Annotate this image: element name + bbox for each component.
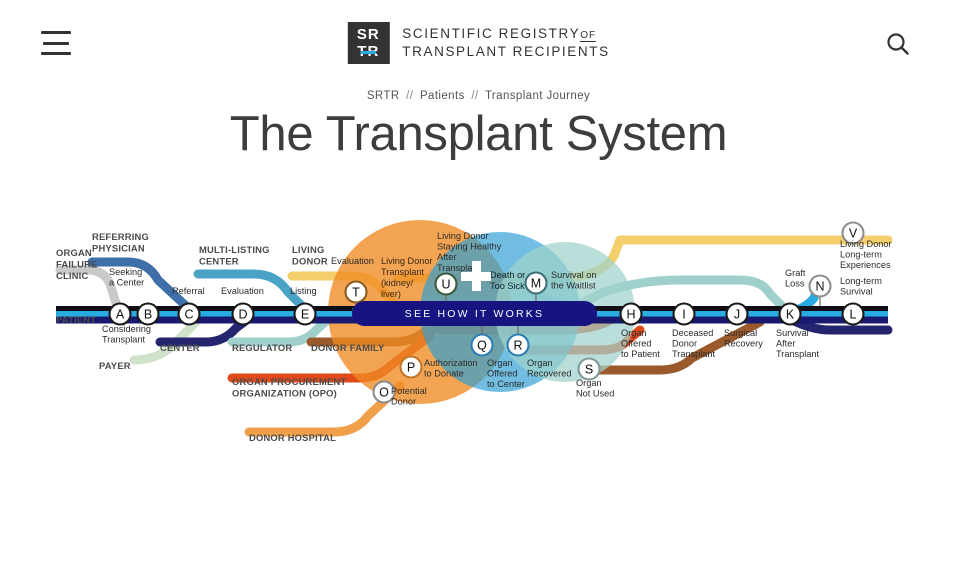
logo-wordmark-line1-main: SCIENTIFIC REGISTRY [402,26,580,41]
station-A[interactable]: A [110,304,131,325]
station-label-C: Referral [172,286,205,296]
hamburger-bar [43,42,69,45]
station-letter-P: P [407,361,415,375]
station-letter-H: H [626,308,635,322]
page-title: The Transplant System [0,106,957,162]
plus-icon [461,261,491,291]
station-letter-M: M [531,277,541,291]
logo-mark-icon: SR TR [347,22,389,64]
station-letter-R: R [513,339,522,353]
station-N[interactable]: N [810,276,831,297]
site-header: SR TR SCIENTIFIC REGISTRYOF TRANSPLANT R… [0,0,957,88]
logo-mark-line1: SR [347,26,389,43]
station-letter-K: K [786,308,795,322]
station-M[interactable]: M [526,273,547,294]
hamburger-bar [41,31,71,34]
site-logo[interactable]: SR TR SCIENTIFIC REGISTRYOF TRANSPLANT R… [347,22,609,64]
breadcrumb-item-transplant-journey[interactable]: Transplant Journey [485,90,590,102]
station-label-B: Seekinga Center [109,267,144,288]
station-label-A: ConsideringTransplant [102,324,151,345]
station-letter-N: N [815,280,824,294]
station-label-L: Long-termSurvival [840,276,882,297]
breadcrumb-item-srtr[interactable]: SRTR [367,90,400,102]
logo-wordmark-line2: TRANSPLANT RECIPIENTS [402,43,609,60]
diagram-label-death-or-too-sick: Death orToo Sick [490,270,525,291]
page-root: SR TR SCIENTIFIC REGISTRYOF TRANSPLANT R… [0,0,957,579]
breadcrumb-separator: // [406,90,413,102]
station-Q[interactable]: Q [472,335,493,356]
route-label-payer: PAYER [99,360,131,371]
station-U[interactable]: U [436,274,457,295]
station-label-J: SurgicalRecovery [724,328,763,349]
station-label-T: Evaluation [331,256,374,266]
transplant-system-diagram: AConsideringTransplantBSeekinga CenterCR… [0,200,957,530]
station-letter-U: U [441,278,450,292]
station-letter-T: T [352,286,360,300]
station-letter-S: S [585,363,593,377]
station-S[interactable]: S [579,359,600,380]
station-letter-D: D [238,308,247,322]
station-label-H: OrganOfferedto Patient [621,328,660,359]
logo-wordmark-of: OF [580,30,596,42]
route-label-center: CENTER [160,342,200,353]
station-letter-I: I [682,308,685,322]
station-I[interactable]: I [674,304,695,325]
diagram-canvas: AConsideringTransplantBSeekinga CenterCR… [0,200,957,530]
logo-mark-accent-bar [360,51,375,54]
station-B[interactable]: B [138,304,159,325]
station-label-K: SurvivalAfterTransplant [776,328,820,359]
route-label-multi-listing-center: MULTI-LISTINGCENTER [199,244,270,266]
station-label-S: OrganNot Used [576,378,614,399]
station-label-M: Survival onthe Waitlist [551,270,596,291]
route-label-donor-hospital: DONOR HOSPITAL [249,432,336,443]
breadcrumb: SRTR // Patients // Transplant Journey [0,90,957,102]
station-label-I: DeceasedDonorTransplant [672,328,716,359]
station-label-D: Evaluation [221,286,264,296]
station-letter-E: E [301,308,309,322]
route-label-regulator: REGULATOR [232,342,292,353]
route-label-living-donor: LIVINGDONOR [292,244,328,266]
station-letter-J: J [734,308,740,322]
station-letter-Q: Q [477,339,487,353]
station-T[interactable]: T [346,282,367,303]
hamburger-bar [41,52,71,55]
station-H[interactable]: H [621,304,642,325]
hamburger-icon[interactable] [41,31,71,55]
logo-wordmark-line1: SCIENTIFIC REGISTRYOF [402,25,609,43]
station-L[interactable]: L [843,304,864,325]
see-how-it-works-button[interactable]: SEE HOW IT WORKS [352,301,597,326]
breadcrumb-item-patients[interactable]: Patients [420,90,465,102]
station-letter-O: O [379,386,389,400]
search-icon[interactable] [885,31,911,57]
station-letter-C: C [184,308,193,322]
station-J[interactable]: J [727,304,748,325]
station-letter-B: B [144,308,152,322]
station-C[interactable]: C [179,304,200,325]
station-label-N: GraftLoss [785,268,806,289]
route-label-donor-family: DONOR FAMILY [311,342,385,353]
station-letter-L: L [850,308,857,322]
station-D[interactable]: D [233,304,254,325]
route-label-referring-physician: REFERRINGPHYSICIAN [92,231,149,253]
station-P[interactable]: P [401,357,422,378]
station-E[interactable]: E [295,304,316,325]
station-letter-A: A [116,308,125,322]
station-label-E: Listing [290,286,317,296]
logo-wordmark: SCIENTIFIC REGISTRYOF TRANSPLANT RECIPIE… [402,25,609,60]
route-label-patient: PATIENT [56,314,96,325]
station-K[interactable]: K [780,304,801,325]
breadcrumb-separator: // [471,90,478,102]
station-R[interactable]: R [508,335,529,356]
route-label-organ-procurement-organization: ORGAN PROCUREMENTORGANIZATION (OPO) [232,376,346,398]
station-label-V: Living DonorLong-termExperiences [840,239,892,270]
